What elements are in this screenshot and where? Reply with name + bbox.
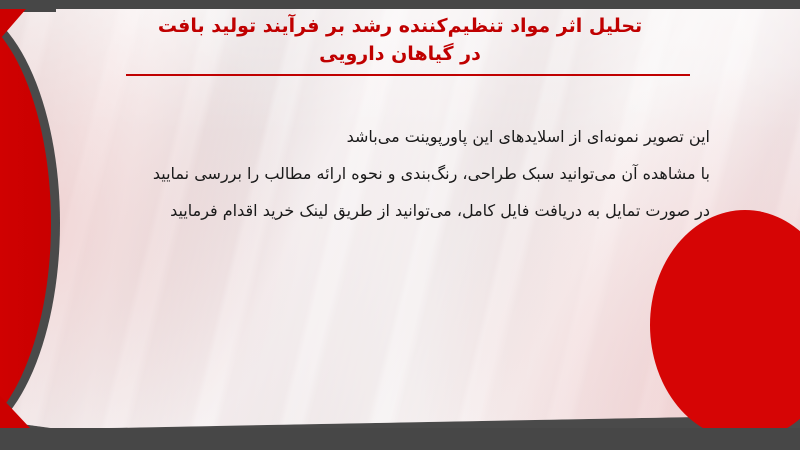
title-underline-rule — [126, 74, 690, 76]
title-line-2: در گیاهان دارویی — [110, 40, 690, 68]
body-line-3: در صورت تمایل به دریافت فایل کامل، می‌تو… — [90, 192, 710, 229]
top-frame-band — [0, 0, 800, 10]
body-line-2: با مشاهده آن می‌توانید سبک طراحی، رنگ‌بن… — [90, 155, 710, 192]
bottom-frame-band — [0, 428, 800, 450]
slide-title: تحلیل اثر مواد تنظیم‌کننده رشد بر فرآیند… — [110, 12, 690, 68]
title-line-1: تحلیل اثر مواد تنظیم‌کننده رشد بر فرآیند… — [110, 12, 690, 40]
presentation-slide: تحلیل اثر مواد تنظیم‌کننده رشد بر فرآیند… — [0, 0, 800, 450]
slide-body-text: این تصویر نمونه‌ای از اسلایدهای این پاور… — [90, 118, 710, 229]
body-line-1: این تصویر نمونه‌ای از اسلایدهای این پاور… — [90, 118, 710, 155]
